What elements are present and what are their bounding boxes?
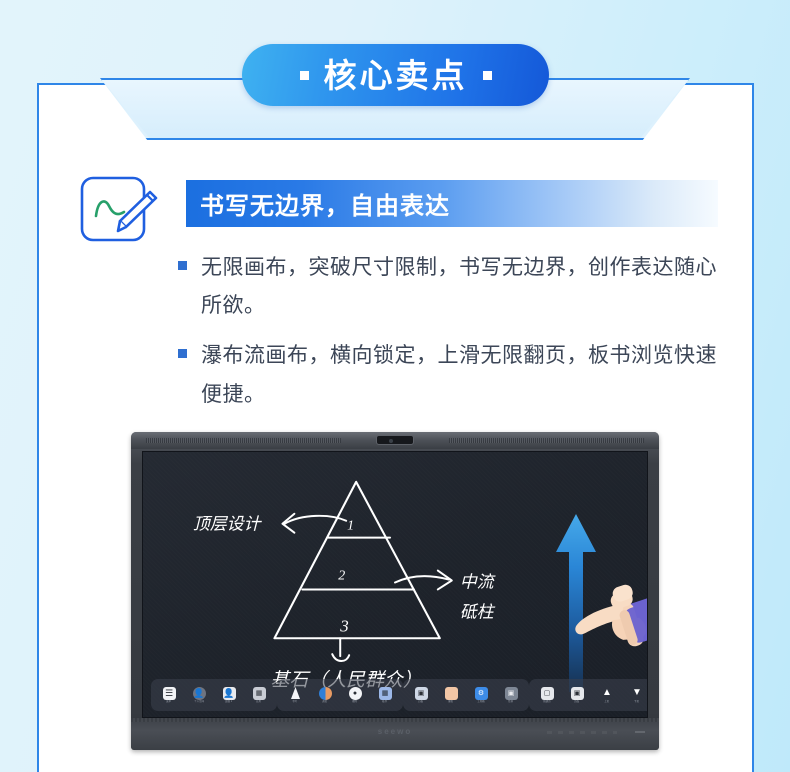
speaker-grille-right xyxy=(449,438,644,443)
note-app-icon xyxy=(445,687,458,700)
taskbar-item-pen[interactable]: 书写 xyxy=(281,682,309,708)
taskbar-item-label: 菜单 xyxy=(167,701,172,703)
taskbar-item-label: 班级 1 xyxy=(225,701,232,703)
page-copy-icon: ▣ xyxy=(571,687,584,700)
taskbar-item-label: 传屏 xyxy=(509,701,514,703)
taskbar-item-class[interactable]: 👤 班级 1 xyxy=(215,682,243,708)
taskbar-item-toolbox-app[interactable]: ⚙ 工具箱 xyxy=(467,682,495,708)
taskbar-item-label: 新建页 xyxy=(543,701,550,703)
taskbar-item-whiteboard-app[interactable]: ▣ 白板 xyxy=(407,682,435,708)
board-grid-icon: ▦ xyxy=(379,687,392,700)
interactive-flat-panel-device: 1 2 3 顶层设计 中流 砥柱 基石（人民群众） xyxy=(131,432,659,750)
tool-app-icon: ⚙ xyxy=(475,687,488,700)
bullet-text: 无限画布，突破尺寸限制，书写无边界，创作表达随心所欲。 xyxy=(201,249,738,325)
left-square-marker-icon xyxy=(300,71,309,80)
page-title-badge: 核心卖点 xyxy=(242,44,549,106)
pointing-hand-cursor-icon xyxy=(569,559,648,679)
handwriting-label-right-1: 中流 xyxy=(460,572,496,591)
bullet-marker-icon xyxy=(178,349,187,358)
taskbar-item-palette[interactable]: 调色 xyxy=(311,682,339,708)
pen-tool-icon xyxy=(289,687,302,700)
page-title: 核心卖点 xyxy=(324,59,468,92)
taskbar-item-next-page[interactable]: ▼ 下页 xyxy=(623,682,648,708)
user-circle-icon: 👤 xyxy=(193,687,206,700)
feature-heading-text: 书写无边界，自由表达 xyxy=(186,186,450,221)
device-taskbar[interactable]: ☰ 菜单 👤 个人空间 👤 班级 1 ▦ 应用 xyxy=(151,679,639,711)
palette-icon xyxy=(319,687,332,700)
taskbar-group-tools[interactable]: 书写 调色 ● 擦除 ▦ 板书 xyxy=(277,679,403,711)
device-brand-logo: seewo xyxy=(378,727,412,736)
taskbar-item-label: 工具箱 xyxy=(477,701,484,703)
device-screen[interactable]: 1 2 3 顶层设计 中流 砥柱 基石（人民群众） xyxy=(142,451,648,718)
user-add-icon: 👤 xyxy=(223,687,236,700)
taskbar-item-note-app[interactable]: 便签 xyxy=(437,682,465,708)
chevron-down-icon: ▼ xyxy=(631,687,644,700)
handwriting-pen-icon xyxy=(78,172,162,250)
taskbar-item-label: 板书 xyxy=(383,701,388,703)
camera-module-icon xyxy=(376,435,414,445)
taskbar-item-new-page[interactable]: ▢ 新建页 xyxy=(533,682,561,708)
screen-share-icon: ▣ xyxy=(505,687,518,700)
taskbar-item-menu-list[interactable]: ☰ 菜单 xyxy=(155,682,183,708)
feature-heading-row: 书写无边界，自由表达 xyxy=(78,168,718,254)
page-new-icon: ▢ xyxy=(541,687,554,700)
taskbar-item-apps[interactable]: ▦ 应用 xyxy=(245,682,273,708)
taskbar-item-personal-space[interactable]: 👤 个人空间 xyxy=(185,682,213,708)
taskbar-item-label: 页面 xyxy=(575,701,580,703)
bottom-bezel-vent xyxy=(547,731,617,734)
taskbar-item-eraser[interactable]: ● 擦除 xyxy=(341,682,369,708)
device-bottom-bezel: seewo xyxy=(131,718,659,750)
taskbar-item-label: 下页 xyxy=(635,701,640,703)
taskbar-item-label: 个人空间 xyxy=(194,701,204,703)
menu-list-icon: ☰ xyxy=(163,687,176,700)
svg-text:1: 1 xyxy=(347,519,354,534)
list-item: 无限画布，突破尺寸限制，书写无边界，创作表达随心所欲。 xyxy=(178,249,738,325)
list-item: 瀑布流画布，横向锁定，上滑无限翻页，板书浏览快速便捷。 xyxy=(178,337,738,413)
bullet-marker-icon xyxy=(178,261,187,270)
taskbar-group-apps[interactable]: ▣ 白板 便签 ⚙ 工具箱 ▣ 传屏 xyxy=(403,679,529,711)
svg-text:3: 3 xyxy=(339,616,348,635)
feature-heading-bar: 书写无边界，自由表达 xyxy=(186,180,718,227)
handwriting-label-right-2: 砥柱 xyxy=(460,602,496,621)
taskbar-item-label: 擦除 xyxy=(353,701,358,703)
taskbar-item-label: 应用 xyxy=(257,701,262,703)
taskbar-item-board[interactable]: ▦ 板书 xyxy=(371,682,399,708)
taskbar-group-right[interactable]: ▢ 新建页 ▣ 页面 ▲ 上页 ▼ 下页 xyxy=(529,679,648,711)
taskbar-item-label: 便签 xyxy=(449,701,454,703)
taskbar-item-prev-page[interactable]: ▲ 上页 xyxy=(593,682,621,708)
feature-bullet-list: 无限画布，突破尺寸限制，书写无边界，创作表达随心所欲。 瀑布流画布，横向锁定，上… xyxy=(178,249,738,426)
handwriting-label-top-left: 顶层设计 xyxy=(193,515,263,534)
taskbar-item-screen-share[interactable]: ▣ 传屏 xyxy=(497,682,525,708)
right-square-marker-icon xyxy=(483,71,492,80)
bottom-bezel-indicator xyxy=(635,731,645,733)
eraser-circle-icon: ● xyxy=(349,687,362,700)
svg-text:2: 2 xyxy=(338,568,345,583)
taskbar-item-label: 白板 xyxy=(419,701,424,703)
apps-grid-icon: ▦ xyxy=(253,687,266,700)
bullet-text: 瀑布流画布，横向锁定，上滑无限翻页，板书浏览快速便捷。 xyxy=(201,337,738,413)
taskbar-item-label: 书写 xyxy=(293,701,298,703)
chevron-up-icon: ▲ xyxy=(601,687,614,700)
taskbar-item-label: 上页 xyxy=(605,701,610,703)
speaker-grille-left xyxy=(146,438,341,443)
taskbar-item-page-list[interactable]: ▣ 页面 xyxy=(563,682,591,708)
taskbar-item-label: 调色 xyxy=(323,701,328,703)
taskbar-group-left[interactable]: ☰ 菜单 👤 个人空间 👤 班级 1 ▦ 应用 xyxy=(151,679,277,711)
bottom-bezel-grille xyxy=(131,718,659,722)
whiteboard-app-icon: ▣ xyxy=(415,687,428,700)
